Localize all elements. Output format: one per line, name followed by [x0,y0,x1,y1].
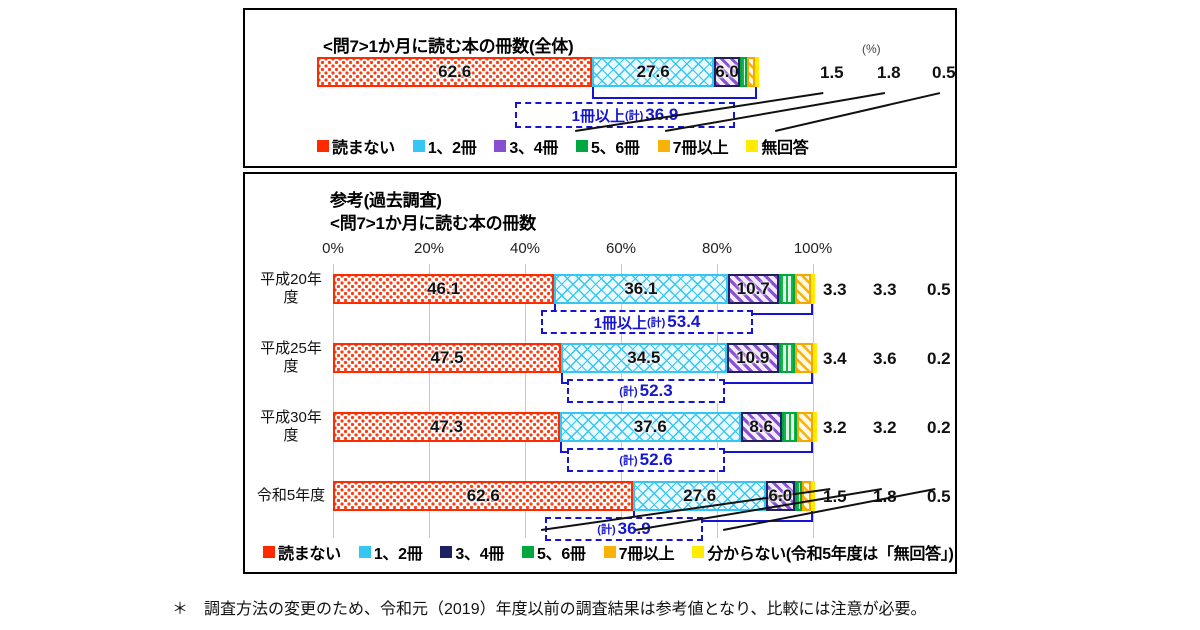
overall-segment-7plus [747,57,755,87]
legend-key-5-6-icon [522,546,534,558]
row-2-segment-1-2: 34.5 [561,343,727,373]
x-axis-tick-label-40: 40% [510,240,540,257]
row-3-outside-value-3: 0.2 [927,418,951,438]
legend-item: 7冊以上 [604,540,675,564]
row-4-segment-read-none: 62.6 [333,481,633,511]
row-1-segment-3-4: 10.7 [728,274,779,304]
row-2-segment-read-none: 47.5 [333,343,561,373]
legend-item-label: 7冊以上 [673,134,729,158]
legend-key-dontknow-icon [692,546,704,558]
row-2-segment-7plus [795,343,812,373]
x-axis-tick-label-20: 20% [414,240,444,257]
legend-item-label: 5、6冊 [537,540,586,564]
row-3-outside-value-1: 3.2 [823,418,847,438]
past-survey-title-line2: <問7>1か月に読む本の冊数 [330,213,536,236]
segment-value-label: 6.0 [715,62,739,82]
legend-key-1-2-icon [359,546,371,558]
legend-item-label: 読まない [278,540,341,564]
row-3-segment-5-6 [782,412,797,442]
past-survey-legend: 読まない1、2冊3、4冊5、6冊7冊以上分からない(令和5年度は「無回答」) [263,540,954,564]
legend-item: 5、6冊 [576,134,640,158]
callout-sub: (計) [597,521,615,537]
row-2-segment-3-4: 10.9 [727,343,779,373]
overall-outside-value-3: 0.5 [932,63,956,83]
overall-legend: 読まない1、2冊3、4冊5、6冊7冊以上無回答 [317,134,808,158]
legend-item: 読まない [263,540,341,564]
row-label-1: 平成20年 度 [253,271,329,307]
row-3-segment-3-4: 8.6 [741,412,782,442]
row-label-4: 令和5年度 [253,487,329,505]
overall-chart-title: <問7>1か月に読む本の冊数(全体) [323,32,574,57]
segment-value-label: 36.1 [624,279,657,299]
overall-segment-3-4: 6.0 [714,57,740,87]
callout-sub: (計) [619,383,637,399]
callout-sub: (計) [619,452,637,468]
row-2-outside-value-2: 3.6 [873,349,897,369]
callout-label: 1冊以上 [594,312,647,333]
footnote: ＊ 調査方法の変更のため、令和元（2019）年度以前の調査結果は参考値となり、比… [172,595,926,619]
segment-value-label: 47.5 [430,348,463,368]
segment-value-label: 47.3 [430,417,463,437]
segment-value-label: 8.6 [749,417,773,437]
legend-item-label: 5、6冊 [591,134,640,158]
legend-key-7plus-icon [658,140,670,152]
row-2-outside-value-3: 0.2 [927,349,951,369]
overall-segment-5-6 [740,57,747,87]
row-label-2: 平成25年 度 [253,340,329,376]
row-2-total-callout: (計)52.3 [567,379,725,403]
legend-key-7plus-icon [604,546,616,558]
legend-key-na-icon [746,140,758,152]
overall-outside-value-1: 1.5 [820,63,844,83]
overall-chart-panel: <問7>1か月に読む本の冊数(全体) (%) 62.627.66.01.51.8… [243,8,957,168]
segment-value-label: 34.5 [627,348,660,368]
row-3-segment-no-answer [813,412,817,442]
segment-value-label: 62.6 [467,486,500,506]
legend-item: 分からない(令和5年度は「無回答」) [692,540,953,564]
segment-value-label: 10.9 [736,348,769,368]
legend-item: 7冊以上 [658,134,729,158]
past-survey-title-line1: 参考(過去調査) [330,190,536,213]
legend-item: 読まない [317,134,395,158]
legend-item: 無回答 [746,134,808,158]
row-1-outside-value-2: 3.3 [873,280,897,300]
callout-sub: (計) [647,314,665,330]
callout-label: 1冊以上 [572,105,625,126]
callout-value: 53.4 [667,312,700,332]
row-1-segment-read-none: 46.1 [333,274,554,304]
legend-item: 1、2冊 [359,540,423,564]
past-survey-title: 参考(過去調査) <問7>1か月に読む本の冊数 [330,190,536,236]
legend-item-label: 分からない(令和5年度は「無回答」) [707,540,953,564]
legend-item: 1、2冊 [413,134,477,158]
legend-item: 5、6冊 [522,540,586,564]
legend-key-1-2-icon [413,140,425,152]
segment-value-label: 6.0 [769,486,793,506]
legend-key-read-none-icon [263,546,275,558]
x-axis-tick-label-80: 80% [702,240,732,257]
legend-key-read-none-icon [317,140,329,152]
segment-value-label: 46.1 [427,279,460,299]
segment-value-label: 27.6 [683,486,716,506]
segment-value-label: 10.7 [737,279,770,299]
overall-segment-no-answer [755,57,759,87]
row-4-segment-no-answer [811,481,815,511]
legend-item-label: 3、4冊 [509,134,558,158]
callout-value: 52.3 [640,381,673,401]
row-4-segment-5-6 [795,481,802,511]
row-3-total-callout: (計)52.6 [567,448,725,472]
legend-item-label: 読まない [332,134,395,158]
row-1-segment-no-answer [811,274,815,304]
legend-key-3-4-icon [440,546,452,558]
row-1-outside-value-3: 0.5 [927,280,951,300]
row-1-outside-value-1: 3.3 [823,280,847,300]
legend-item-label: 無回答 [761,134,808,158]
segment-value-label: 27.6 [637,62,670,82]
row-1-segment-7plus [795,274,811,304]
overall-total-bracket [592,87,757,99]
overall-segment-1-2: 27.6 [592,57,713,87]
overall-unit-label: (%) [862,42,881,56]
screenshot-root: <問7>1か月に読む本の冊数(全体) (%) 62.627.66.01.51.8… [0,0,1200,630]
row-2-segment-5-6 [779,343,795,373]
row-1-total-callout: 1冊以上(計)53.4 [541,310,753,334]
legend-item-label: 1、2冊 [428,134,477,158]
legend-item-label: 7冊以上 [619,540,675,564]
row-2-segment-no-answer [813,343,817,373]
row-3-segment-7plus [797,412,812,442]
segment-value-label: 37.6 [634,417,667,437]
row-3-outside-value-2: 3.2 [873,418,897,438]
x-axis-tick-label-100: 100% [794,240,832,257]
legend-item: 3、4冊 [440,540,504,564]
callout-value: 52.6 [640,450,673,470]
row-4-segment-7plus [802,481,811,511]
past-survey-chart-panel: 参考(過去調査) <問7>1か月に読む本の冊数 0%20%40%60%80%10… [243,172,957,574]
row-3-segment-read-none: 47.3 [333,412,560,442]
legend-item-label: 3、4冊 [455,540,504,564]
segment-value-label: 62.6 [438,62,471,82]
x-axis-tick-label-60: 60% [606,240,636,257]
x-axis-tick-label-0: 0% [322,240,344,257]
legend-key-5-6-icon [576,140,588,152]
legend-key-3-4-icon [494,140,506,152]
row-label-3: 平成30年 度 [253,409,329,445]
legend-item-label: 1、2冊 [374,540,423,564]
row-2-outside-value-1: 3.4 [823,349,847,369]
row-1-segment-1-2: 36.1 [554,274,727,304]
legend-item: 3、4冊 [494,134,558,158]
row-1-segment-5-6 [779,274,795,304]
row-3-segment-1-2: 37.6 [560,412,740,442]
overall-segment-read-none: 62.6 [317,57,592,87]
overall-outside-value-2: 1.8 [877,63,901,83]
